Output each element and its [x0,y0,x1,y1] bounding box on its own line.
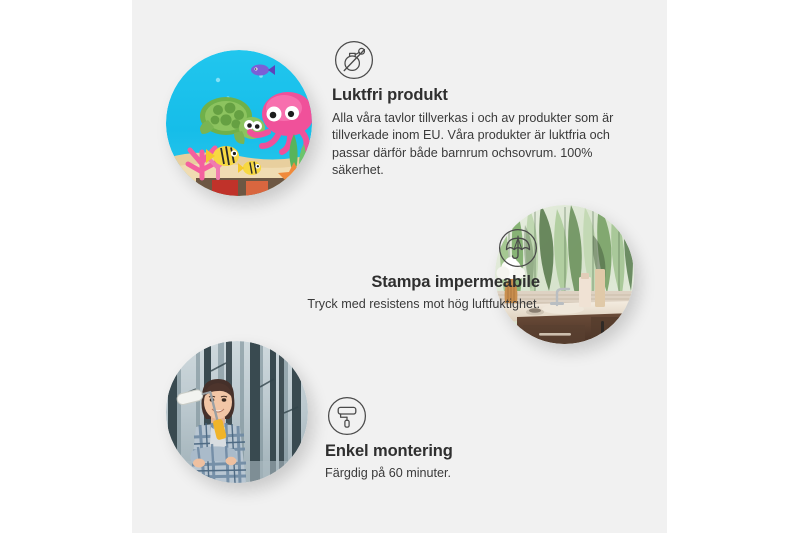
feature-body: Färgdig på 60 minuter. [325,465,615,482]
feature-title: Luktfri produkt [332,86,624,105]
umbrella-icon [498,228,538,268]
promo-graphic: Luktfri produkt Alla våra tavlor tillver… [0,0,800,533]
content-panel: Luktfri produkt Alla våra tavlor tillver… [132,0,667,533]
product-photo-underwater [166,50,312,196]
paint-roller-icon [327,396,367,436]
feature-waterproof: Stampa impermeabile Tryck med resistens … [210,228,540,313]
feature-body: Tryck med resistens mot hög luftfuktighe… [210,296,540,313]
product-photo-forest-woman [166,341,308,483]
no-fragrance-icon [334,40,374,80]
feature-title: Enkel montering [325,442,615,461]
feature-easy-mounting: Enkel montering Färgdig på 60 minuter. [325,396,615,482]
feature-title: Stampa impermeabile [210,273,540,292]
feature-odourless: Luktfri produkt Alla våra tavlor tillver… [332,40,624,180]
feature-body: Alla våra tavlor tillverkas i och av pro… [332,110,624,180]
